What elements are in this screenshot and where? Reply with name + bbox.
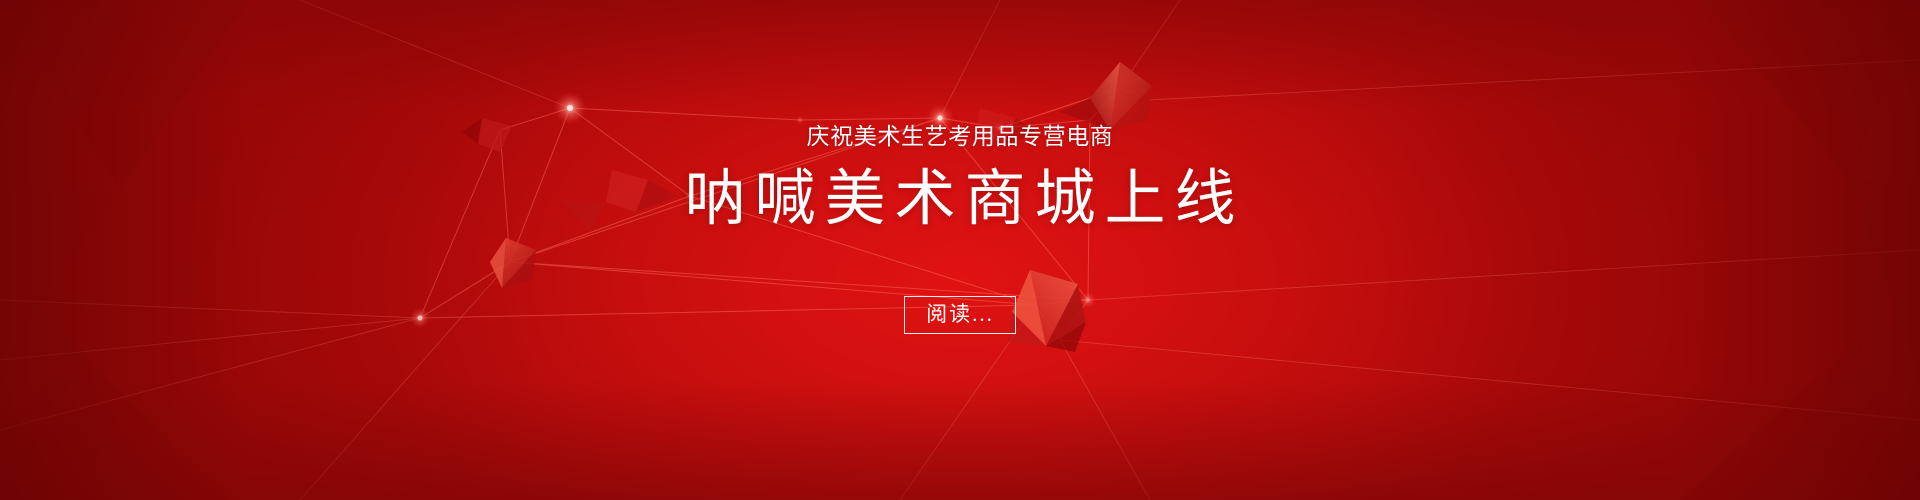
- banner-headline: 呐喊美术商城上线: [675, 164, 1244, 236]
- cta-container: 阅读...: [904, 296, 1016, 334]
- banner-content: 庆祝美术生艺考用品专营电商 呐喊美术商城上线 阅读...: [0, 0, 1920, 500]
- read-more-button[interactable]: 阅读...: [904, 296, 1016, 334]
- banner-subtitle: 庆祝美术生艺考用品专营电商: [807, 121, 1114, 151]
- promo-banner: 庆祝美术生艺考用品专营电商 呐喊美术商城上线 阅读...: [0, 0, 1920, 500]
